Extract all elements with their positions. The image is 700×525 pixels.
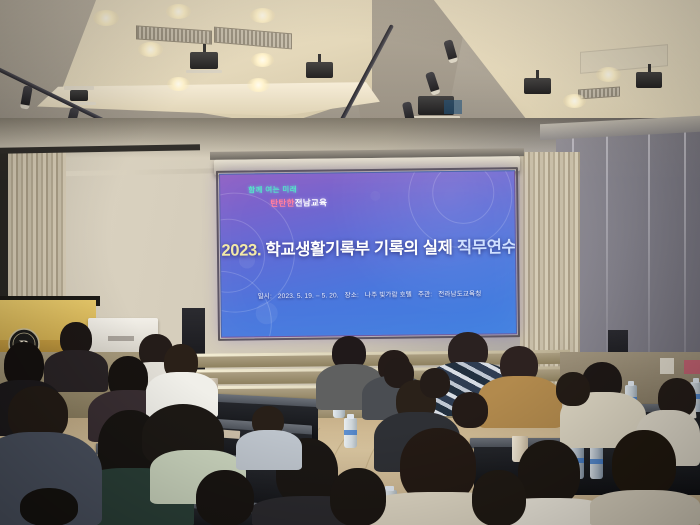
conference-hall-photo: 함께 여는 미래 탄탄한전남교육 2023. 학교생활기록부 기록의 실제 직무… — [0, 0, 700, 525]
downlight — [563, 94, 586, 108]
downlight — [250, 8, 275, 23]
ceiling-projector — [190, 52, 218, 69]
slide-logo-line2: 탄탄한전남교육 — [270, 195, 442, 209]
downlight — [251, 53, 274, 67]
downlight — [93, 10, 119, 26]
slide-title-suffix: 직무연수 — [457, 238, 517, 257]
downlight — [247, 78, 270, 92]
downlight — [167, 77, 190, 91]
ceiling-projector — [524, 78, 551, 94]
projector-mount-arm — [536, 70, 539, 79]
water-bottle — [590, 445, 603, 479]
downlight — [166, 4, 191, 19]
slide-place-label: 장소: — [345, 292, 359, 299]
table-item-red — [684, 360, 700, 374]
slide-title-year: 2023. — [221, 241, 261, 259]
slide-host-value: 전라남도교육청 — [438, 291, 481, 299]
slide-date-value: 2023. 5. 19. – 5. 20. — [278, 292, 339, 300]
slide-logo-line1: 함께 여는 미래 — [248, 182, 442, 195]
slide-title: 2023. 학교생활기록부 기록의 실제 직무연수 — [221, 233, 517, 261]
slide-title-main: 학교생활기록부 기록의 실제 — [265, 239, 452, 259]
projection-screen: 함께 여는 미래 탄탄한전남교육 2023. 학교생활기록부 기록의 실제 직무… — [219, 170, 517, 338]
projector-plate — [186, 70, 222, 73]
table-item-white — [660, 358, 674, 374]
equipment-label — [108, 336, 134, 341]
slide-date-label: 일시: — [258, 293, 272, 300]
water-bottle — [344, 418, 357, 448]
downlight — [596, 67, 621, 82]
ceiling-projector — [306, 62, 333, 78]
slide-host-label: 주관: — [418, 291, 432, 298]
projector-indicator — [444, 100, 462, 114]
downlight — [138, 42, 163, 57]
slide-logo-rest: 전남교육 — [295, 197, 328, 207]
slide-logo: 함께 여는 미래 탄탄한전남교육 — [242, 182, 442, 209]
ceiling-projector — [636, 72, 662, 88]
slide-place-value: 나주 빛가람 호텔 — [365, 291, 412, 299]
ceiling-projector — [70, 90, 88, 101]
slide-logo-accent: 탄탄한 — [270, 198, 294, 208]
